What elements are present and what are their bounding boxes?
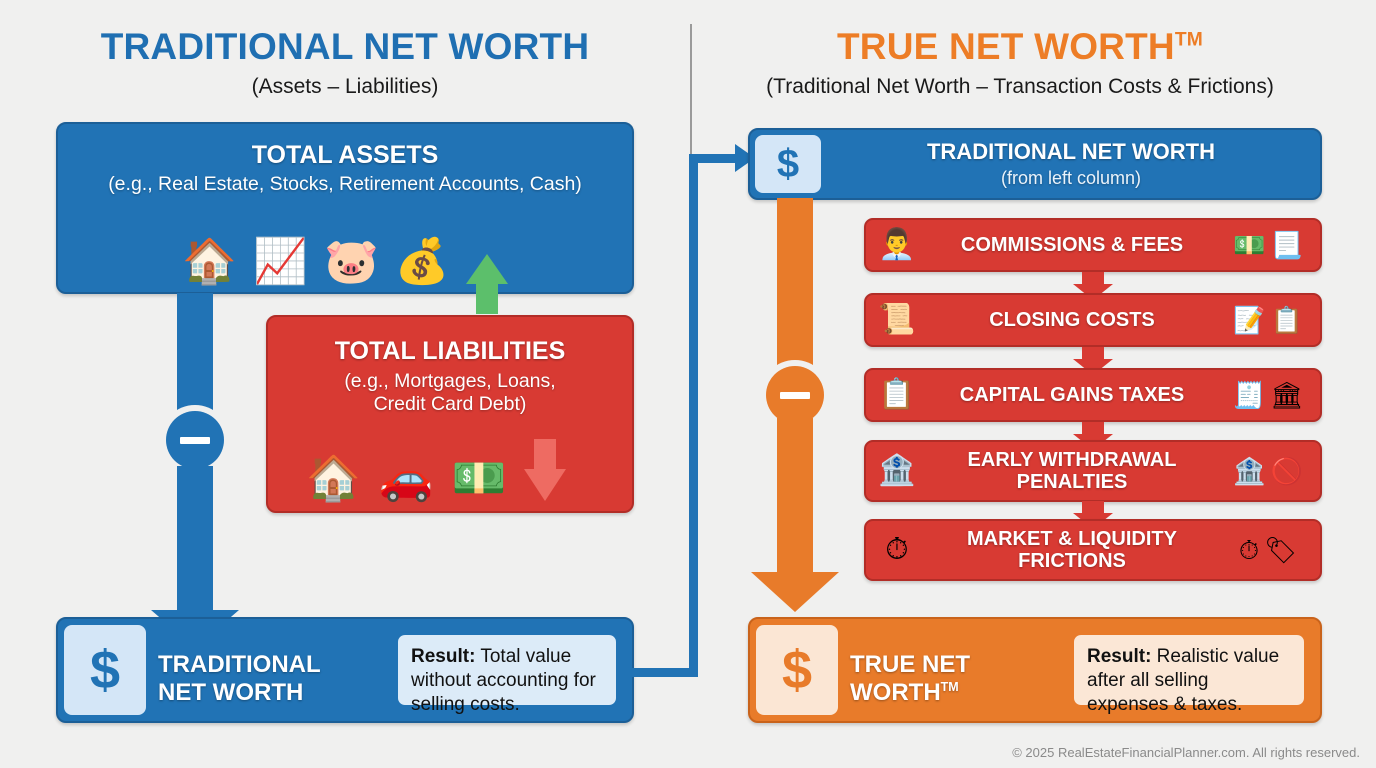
total-liabilities-icon-row: 🏠 🚗 💵 bbox=[278, 439, 622, 501]
left-arrow-shaft-lower bbox=[177, 466, 213, 616]
bank-lock-icon-2: 🏦 bbox=[1233, 458, 1265, 484]
true-net-worth-label-line2: WORTHTM bbox=[850, 679, 1025, 707]
true-net-worth-label-line2-text: WORTH bbox=[850, 679, 941, 706]
traditional-net-worth-input-bar: $ TRADITIONAL NET WORTH (from left colum… bbox=[748, 128, 1322, 200]
tax-clipboard-icon: 📋 bbox=[866, 380, 928, 410]
friction-row-capital-gains-taxes: 📋 CAPITAL GAINS TAXES 🧾🏛 bbox=[864, 368, 1322, 422]
traditional-net-worth-label: TRADITIONAL NET WORTH bbox=[158, 651, 348, 707]
stopwatch-icon: ⏱ bbox=[866, 535, 928, 565]
friction-right-icons-2: 🧾🏛 bbox=[1216, 382, 1320, 408]
infographic-canvas: TRADITIONAL NET WORTH (Assets – Liabilit… bbox=[0, 0, 1376, 768]
total-liabilities-box: TOTAL LIABILITIES (e.g., Mortgages, Loan… bbox=[266, 315, 634, 513]
friction-right-icons-1: 📝📋 bbox=[1216, 307, 1320, 333]
friction-label-0: COMMISSIONS & FEES bbox=[928, 234, 1216, 256]
traditional-net-worth-result-bar: $ TRADITIONAL NET WORTH Result: Total va… bbox=[56, 617, 634, 723]
true-result-card: Result: Realistic value after all sellin… bbox=[1072, 633, 1306, 707]
trademark-symbol: TM bbox=[1175, 30, 1203, 51]
title-document-icon: 📝 bbox=[1233, 307, 1265, 333]
friction-right-icons-4: ⏱🏷 bbox=[1216, 537, 1320, 563]
total-assets-subtitle: (e.g., Real Estate, Stocks, Retirement A… bbox=[58, 173, 632, 196]
right-column-subtitle: (Traditional Net Worth – Transaction Cos… bbox=[690, 75, 1350, 99]
minus-circle-icon-left bbox=[166, 411, 224, 469]
true-net-worth-label: TRUE NET WORTHTM bbox=[850, 651, 1025, 707]
penalty-form-icon: 🚫 bbox=[1271, 458, 1303, 484]
left-arrow-shaft-upper bbox=[177, 293, 213, 413]
traditional-result-prefix: Result: bbox=[411, 646, 475, 667]
government-building-icon: 🏛 bbox=[1270, 382, 1303, 408]
check-pen-icon: 💵 bbox=[1233, 232, 1265, 258]
dollar-sign-icon-right-bottom: $ bbox=[756, 625, 838, 715]
friction-row-market-liquidity-frictions: ⏱ MARKET & LIQUIDITY FRICTIONS ⏱🏷 bbox=[864, 519, 1322, 581]
trademark-symbol-bottom: TM bbox=[941, 680, 959, 694]
total-liabilities-subtitle-line2: Credit Card Debt) bbox=[268, 393, 632, 416]
connector-segment-vertical bbox=[689, 154, 698, 677]
total-assets-icon-row: 🏠 📈 🐷 💰 bbox=[58, 240, 632, 284]
right-arrow-shaft-upper bbox=[777, 198, 813, 372]
friction-label-1: CLOSING COSTS bbox=[928, 309, 1216, 331]
stopwatch-icon-2: ⏱ bbox=[1239, 537, 1259, 563]
left-column-subtitle: (Assets – Liabilities) bbox=[40, 75, 650, 99]
dollar-sign-icon-right-top: $ bbox=[755, 135, 821, 193]
total-liabilities-subtitle: (e.g., Mortgages, Loans, Credit Card Deb… bbox=[268, 370, 632, 416]
column-divider bbox=[690, 24, 692, 156]
friction-row-early-withdrawal-penalties: 🏦 EARLY WITHDRAWAL PENALTIES 🏦🚫 bbox=[864, 440, 1322, 502]
friction-right-icons-0: 💵📃 bbox=[1216, 232, 1320, 258]
friction-row-closing-costs: 📜 CLOSING COSTS 📝📋 bbox=[864, 293, 1322, 347]
dollar-sign-icon-left: $ bbox=[64, 625, 146, 715]
traditional-input-label: TRADITIONAL NET WORTH bbox=[830, 139, 1312, 165]
friction-label-3: EARLY WITHDRAWAL PENALTIES bbox=[928, 449, 1216, 493]
piggy-bank-icon: 🐷 bbox=[324, 240, 379, 284]
bank-lock-icon: 🏦 bbox=[866, 456, 928, 486]
total-liabilities-subtitle-line1: (e.g., Mortgages, Loans, bbox=[268, 370, 632, 393]
agent-icon: 👨‍💼 bbox=[866, 230, 928, 260]
traditional-net-worth-label-line1: TRADITIONAL bbox=[158, 651, 348, 679]
house-deed-icon: 📜 bbox=[866, 305, 928, 335]
tax-form-icon: 🧾 bbox=[1233, 382, 1265, 408]
green-up-arrow-icon bbox=[466, 254, 508, 284]
cash-stack-icon: 💵 bbox=[452, 457, 507, 501]
true-result-prefix: Result: bbox=[1087, 646, 1151, 667]
left-column-title: TRADITIONAL NET WORTH bbox=[40, 26, 650, 68]
sale-tag-down-icon: 🏷 bbox=[1264, 537, 1297, 563]
right-column-title-text: TRUE NET WORTH bbox=[837, 26, 1175, 67]
minus-circle-icon-right bbox=[766, 366, 824, 424]
house-icon: 🏠 bbox=[182, 240, 237, 284]
contract-icon: 📋 bbox=[1271, 307, 1303, 333]
copyright-footer: © 2025 RealEstateFinancialPlanner.com. A… bbox=[1012, 745, 1360, 760]
loan-document-car-icon: 🚗 bbox=[379, 457, 434, 501]
total-assets-title: TOTAL ASSETS bbox=[58, 141, 632, 170]
traditional-result-card: Result: Total value without accounting f… bbox=[396, 633, 618, 707]
traditional-input-sublabel: (from left column) bbox=[830, 168, 1312, 189]
true-net-worth-label-line1: TRUE NET bbox=[850, 651, 1025, 679]
right-arrow-head bbox=[751, 572, 839, 612]
friction-right-icons-3: 🏦🚫 bbox=[1216, 458, 1320, 484]
red-down-arrow-icon bbox=[524, 469, 566, 501]
connector-segment-bottom bbox=[620, 668, 698, 677]
money-bag-icon: 💰 bbox=[395, 240, 450, 284]
house-with-lock-icon: 🏠 bbox=[306, 457, 361, 501]
traditional-net-worth-label-line2: NET WORTH bbox=[158, 679, 348, 707]
friction-label-2: CAPITAL GAINS TAXES bbox=[928, 384, 1216, 406]
right-arrow-shaft-lower bbox=[777, 418, 813, 578]
total-assets-box: TOTAL ASSETS (e.g., Real Estate, Stocks,… bbox=[56, 122, 634, 294]
right-column-title: TRUE NET WORTHTM bbox=[700, 26, 1340, 68]
friction-label-4: MARKET & LIQUIDITY FRICTIONS bbox=[928, 528, 1216, 572]
signed-document-icon: 📃 bbox=[1271, 232, 1303, 258]
friction-row-commissions-fees: 👨‍💼 COMMISSIONS & FEES 💵📃 bbox=[864, 218, 1322, 272]
total-liabilities-title: TOTAL LIABILITIES bbox=[268, 337, 632, 366]
true-net-worth-result-bar: $ TRUE NET WORTHTM Result: Realistic val… bbox=[748, 617, 1322, 723]
growth-chart-icon: 📈 bbox=[253, 240, 308, 284]
